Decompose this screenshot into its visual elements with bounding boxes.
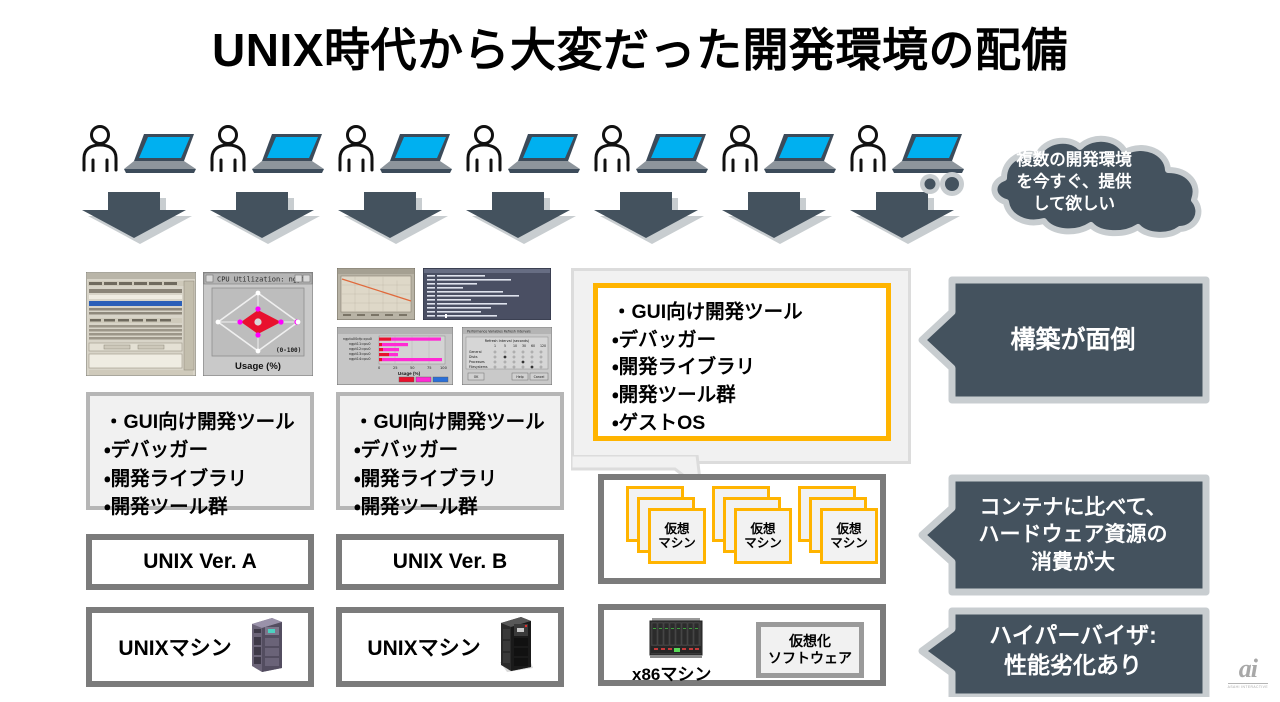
svg-text:ngpt13:cpu0: ngpt13:cpu0	[349, 352, 371, 356]
callout-text: ハイパーバイザ: 性能劣化あり	[962, 621, 1184, 681]
laptop-icon	[378, 130, 456, 179]
svg-text:Refresh Interval (seconds): Refresh Interval (seconds)	[485, 339, 530, 343]
laptop-icon	[250, 130, 328, 179]
vm-card-line: マシン	[830, 536, 868, 550]
thought-bubble-text: 複数の開発環境 を今すぐ、提供 して欲しい	[970, 150, 1178, 215]
guest-os-item: ・開発ライブラリ	[612, 354, 886, 382]
svg-text:75: 75	[427, 366, 432, 370]
svg-text:Performance Variables Refresh: Performance Variables Refresh Intervals	[467, 330, 531, 334]
svg-text:5: 5	[504, 344, 506, 348]
down-arrow-icon	[582, 188, 710, 244]
vm-stack: 仮想 マシン 仮想 マシン 仮想 マシン	[626, 486, 700, 568]
screenshot-refresh-interval-dialog: Performance Variables Refresh Intervals …	[462, 327, 552, 385]
ai-watermark-logo: ai ASAHI INTERACTIVE	[1228, 656, 1268, 689]
version-box-unix-b: UNIX Ver. B	[336, 534, 564, 590]
user-unit	[78, 124, 206, 176]
svg-text:10: 10	[513, 344, 517, 348]
svg-text:30: 30	[522, 344, 526, 348]
ai-logo-subtitle: ASAHI INTERACTIVE	[1228, 683, 1268, 689]
user-unit	[206, 124, 334, 176]
person-icon	[208, 124, 248, 177]
version-label: UNIX Ver. B	[393, 550, 507, 574]
tools-item: ・デバッガー	[354, 436, 560, 464]
svg-text:1: 1	[494, 344, 496, 348]
laptop-icon	[122, 130, 200, 179]
vm-card-line: 仮想	[836, 522, 861, 536]
svg-text:Disks: Disks	[469, 355, 478, 359]
ai-logo-mark: ai	[1228, 656, 1268, 682]
callout-line: ハードウェア資源の	[962, 521, 1184, 548]
x86-machine-panel: x86マシン 仮想化 ソフトウェア	[598, 604, 886, 686]
callout-line: 消費が大	[962, 549, 1184, 576]
down-arrow-icon	[710, 188, 838, 244]
person-icon	[464, 124, 504, 177]
machine-box-unix-a: UNIXマシン	[86, 607, 314, 687]
person-icon	[592, 124, 632, 177]
thought-bubble-line: して欲しい	[970, 194, 1178, 216]
guest-os-item: ・開発ツール群	[612, 382, 886, 410]
virtual-machine-panel: 仮想 マシン 仮想 マシン 仮想 マシン 仮想 マシン 仮想 マシン 仮想 マシ…	[598, 474, 886, 584]
screenshot-line-chart	[337, 268, 415, 320]
person-icon	[720, 124, 760, 177]
tools-item: ・開発ライブラリ	[104, 465, 310, 493]
svg-text:General: General	[469, 350, 482, 354]
thought-bubble-line: 複数の開発環境	[970, 150, 1178, 172]
svg-text:ngptu00cfp:cpu0: ngptu00cfp:cpu0	[343, 337, 372, 341]
blade-server-icon	[648, 616, 704, 665]
vm-card: 仮想 マシン	[648, 508, 706, 564]
laptop-icon	[762, 130, 840, 179]
screenshot-admin-table	[86, 272, 196, 376]
person-icon	[336, 124, 376, 177]
unix-server-tower-icon	[497, 615, 533, 679]
callout-text: コンテナに比べて、 ハードウェア資源の 消費が大	[962, 494, 1184, 576]
guest-os-item: ・ゲストOS	[612, 410, 886, 438]
laptop-icon	[506, 130, 584, 179]
screenshot-terminal-log	[423, 268, 551, 320]
tools-item: ・GUI向け開発ツール	[104, 408, 310, 436]
tools-item: ・開発ツール群	[104, 493, 310, 521]
user-unit	[462, 124, 590, 176]
user-unit	[334, 124, 462, 176]
callout-build-troublesome: 構築が面倒	[918, 276, 1210, 404]
virtualization-software-line: ソフトウェア	[768, 650, 852, 667]
person-icon	[80, 124, 120, 177]
vm-stack: 仮想 マシン 仮想 マシン 仮想 マシン	[712, 486, 786, 568]
callout-line: ハイパーバイザ:	[962, 621, 1184, 651]
machine-box-unix-b: UNIXマシン	[336, 607, 564, 687]
svg-text:Filesystems: Filesystems	[469, 365, 488, 369]
vm-card: 仮想 マシン	[734, 508, 792, 564]
down-arrow-icon	[454, 188, 582, 244]
svg-text:Processes: Processes	[469, 360, 485, 364]
tools-item: ・GUI向け開発ツール	[354, 408, 560, 436]
callout-line: 構築が面倒	[962, 324, 1184, 357]
screenshot-bar-chart-usage: ngptu00cfp:cpu0 ngpt11:cpu0 ngpt12:cpu0 …	[337, 327, 453, 385]
tools-box-unix-b: ・GUI向け開発ツール ・デバッガー ・開発ライブラリ ・開発ツール群	[336, 392, 564, 510]
guest-os-item: ・デバッガー	[612, 327, 886, 355]
svg-text:100: 100	[440, 366, 448, 370]
svg-text:ngpt14:cpu0: ngpt14:cpu0	[349, 357, 371, 361]
down-arrow-icon	[198, 188, 326, 244]
machine-label: UNIXマシン	[367, 632, 480, 662]
vm-card-line: マシン	[744, 536, 782, 550]
machine-label: UNIXマシン	[118, 632, 231, 662]
callout-line: コンテナに比べて、	[962, 494, 1184, 521]
thought-bubble: 複数の開発環境 を今すぐ、提供 して欲しい	[918, 128, 1232, 238]
version-box-unix-a: UNIX Ver. A	[86, 534, 314, 590]
svg-text:120: 120	[540, 344, 546, 348]
svg-text:50: 50	[410, 366, 415, 370]
virtualization-software-box: 仮想化 ソフトウェア	[756, 622, 864, 678]
page-title: UNIX時代から大変だった開発環境の配備	[0, 14, 1280, 80]
thought-bubble-dots	[920, 172, 964, 196]
svg-text:(0-100): (0-100)	[276, 347, 301, 354]
guest-os-item: ・GUI向け開発ツール	[612, 299, 886, 327]
callout-text: 構築が面倒	[962, 324, 1184, 357]
down-arrow-icon	[70, 188, 198, 244]
x86-machine-label: x86マシン	[632, 660, 711, 685]
version-label: UNIX Ver. A	[143, 550, 257, 574]
svg-text:25: 25	[393, 366, 398, 370]
guest-os-panel: ・GUI向け開発ツール ・デバッガー ・開発ライブラリ ・開発ツール群 ・ゲスト…	[571, 268, 911, 464]
screenshot-cpu-utilization-kiviat: CPU Utilization: ngpt (0-100) Usage (%)	[203, 272, 313, 376]
vm-card-line: 仮想	[750, 522, 775, 536]
svg-text:ngpt12:cpu0: ngpt12:cpu0	[349, 347, 371, 351]
vm-card-line: マシン	[658, 536, 696, 550]
user-unit	[590, 124, 718, 176]
user-unit	[718, 124, 846, 176]
vm-card: 仮想 マシン	[820, 508, 878, 564]
laptop-icon	[634, 130, 712, 179]
thought-bubble-line: を今すぐ、提供	[970, 172, 1178, 194]
svg-text:ngpt11:cpu0: ngpt11:cpu0	[349, 342, 371, 346]
callout-hypervisor-degradation: ハイパーバイザ: 性能劣化あり	[918, 607, 1210, 697]
svg-text:60: 60	[531, 344, 535, 348]
virtualization-software-line: 仮想化	[789, 633, 831, 650]
guest-os-tools-box: ・GUI向け開発ツール ・デバッガー ・開発ライブラリ ・開発ツール群 ・ゲスト…	[593, 283, 891, 441]
svg-text:Help: Help	[516, 375, 523, 379]
tools-box-unix-a: ・GUI向け開発ツール ・デバッガー ・開発ライブラリ ・開発ツール群	[86, 392, 314, 510]
svg-text:Usage (%): Usage (%)	[398, 371, 421, 376]
down-arrow-icon	[326, 188, 454, 244]
svg-text:Usage (%): Usage (%)	[235, 361, 281, 372]
person-icon	[848, 124, 888, 177]
tools-item: ・開発ツール群	[354, 493, 560, 521]
svg-text:Cancel: Cancel	[534, 375, 545, 379]
callout-line: 性能劣化あり	[962, 651, 1184, 681]
callout-hardware-consumption: コンテナに比べて、 ハードウェア資源の 消費が大	[918, 474, 1210, 596]
tools-item: ・開発ライブラリ	[354, 465, 560, 493]
unix-server-tower-icon	[248, 616, 282, 678]
vm-stack: 仮想 マシン 仮想 マシン 仮想 マシン	[798, 486, 872, 568]
vm-card-line: 仮想	[664, 522, 689, 536]
svg-text:CPU Utilization: ngpt: CPU Utilization: ngpt	[217, 276, 306, 284]
tools-item: ・デバッガー	[104, 436, 310, 464]
